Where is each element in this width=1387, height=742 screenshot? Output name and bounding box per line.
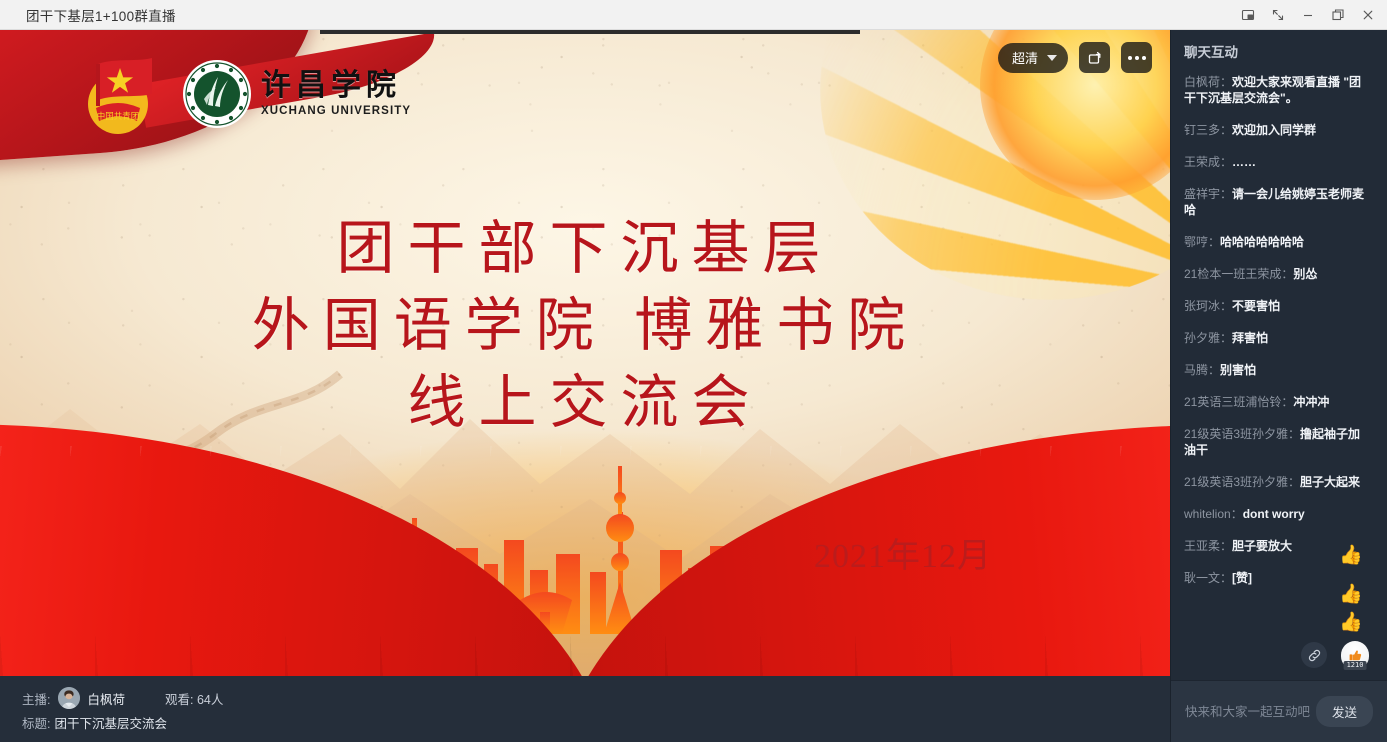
maximize-icon[interactable] bbox=[1323, 0, 1353, 30]
university-logo: 许昌学院 XUCHANG UNIVERSITY bbox=[182, 59, 411, 129]
chat-message-text: 胆子要放大 bbox=[1232, 539, 1292, 553]
send-button[interactable]: 发送 bbox=[1316, 696, 1373, 727]
chat-message-author: 钉三多： bbox=[1184, 123, 1232, 137]
chat-message: 钉三多：欢迎加入同学群 bbox=[1184, 122, 1371, 138]
chat-panel: 聊天互动 白枫荷：欢迎大家来观看直播 "团干下沉基层交流会"。钉三多：欢迎加入同… bbox=[1170, 30, 1387, 742]
chat-message-author: 21英语三班浦怡铃： bbox=[1184, 395, 1293, 409]
window-controls bbox=[1233, 0, 1383, 30]
player-controls: 超清 bbox=[998, 42, 1152, 73]
chat-message-text: …… bbox=[1232, 155, 1256, 169]
chat-message: 马腾：别害怕 bbox=[1184, 362, 1371, 378]
host-avatar bbox=[58, 687, 80, 709]
viewer-label: 观看: bbox=[165, 693, 193, 707]
chat-message-author: 耿一文： bbox=[1184, 571, 1232, 585]
chat-message-author: 鄂哼： bbox=[1184, 235, 1220, 249]
chat-action-row: 1210 bbox=[1171, 634, 1387, 680]
chat-message: 耿一文：[赞] bbox=[1184, 570, 1371, 586]
chat-message: 21级英语3班孙夕雅：胆子大起来 bbox=[1184, 474, 1371, 490]
stream-title-value: 团干下沉基层交流会 bbox=[54, 713, 167, 732]
minimize-icon[interactable] bbox=[1293, 0, 1323, 30]
chat-message: 鄂哼：哈哈哈哈哈哈哈 bbox=[1184, 234, 1371, 250]
expand-window-icon[interactable] bbox=[1263, 0, 1293, 30]
chat-message: 张珂冰：不要害怕 bbox=[1184, 298, 1371, 314]
letterbox-edge bbox=[320, 30, 860, 34]
chat-message-author: 孙夕雅： bbox=[1184, 331, 1232, 345]
title-bar: 团干下基层1+100群直播 bbox=[0, 0, 1387, 30]
chat-message-text: 冲冲冲 bbox=[1293, 395, 1329, 409]
headline-line-3: 线上交流会 bbox=[0, 364, 1170, 441]
picture-in-picture-icon[interactable] bbox=[1233, 0, 1263, 30]
host-line: 主播: 白枫荷 观看: 64人 bbox=[22, 685, 1170, 711]
close-icon[interactable] bbox=[1353, 0, 1383, 30]
window-title: 团干下基层1+100群直播 bbox=[0, 5, 176, 25]
chat-message-author: 马腾： bbox=[1184, 363, 1220, 377]
chat-message-text: [赞] bbox=[1232, 571, 1252, 585]
chat-panel-title: 聊天互动 bbox=[1171, 30, 1387, 64]
chat-message-text: dont worry bbox=[1243, 507, 1305, 521]
chat-message-author: 盛祥宇： bbox=[1184, 187, 1232, 201]
stream-title-line: 标题: 团干下沉基层交流会 bbox=[22, 709, 1170, 735]
chat-message-list[interactable]: 白枫荷：欢迎大家来观看直播 "团干下沉基层交流会"。钉三多：欢迎加入同学群王荣成… bbox=[1171, 64, 1387, 634]
svg-text:中国共青团: 中国共青团 bbox=[97, 111, 140, 121]
chat-message-author: 21级英语3班孙夕雅： bbox=[1184, 427, 1300, 441]
chat-input-row: 发送 bbox=[1171, 680, 1387, 742]
headline-line-1: 团干部下沉基层 bbox=[0, 210, 1170, 287]
chat-message: 盛祥宇：请一会儿给姚婷玉老师麦哈 bbox=[1184, 186, 1371, 218]
chat-message-author: 张珂冰： bbox=[1184, 299, 1232, 313]
chevron-down-icon bbox=[1047, 55, 1057, 61]
university-name-en: XUCHANG UNIVERSITY bbox=[261, 106, 411, 118]
chat-message-text: 哈哈哈哈哈哈哈 bbox=[1220, 235, 1304, 249]
chat-message-text: 拜害怕 bbox=[1232, 331, 1268, 345]
video-column: 中国共青团 bbox=[0, 30, 1170, 742]
slide-date: 2021年12月 bbox=[814, 528, 992, 577]
chat-message-text: 欢迎加入同学群 bbox=[1232, 123, 1316, 137]
chat-message-text: 别怂 bbox=[1293, 267, 1317, 281]
viewer-count: 观看: 64人 bbox=[165, 689, 223, 708]
stream-title-label: 标题: bbox=[22, 713, 50, 732]
university-name-cn: 许昌学院 bbox=[261, 71, 411, 101]
slide-logos: 中国共青团 bbox=[76, 48, 411, 140]
quality-selector[interactable]: 超清 bbox=[998, 43, 1068, 73]
xuchang-university-mark-icon bbox=[182, 59, 252, 129]
like-count-badge: 1210 bbox=[1344, 661, 1367, 670]
stream-info-bar: 主播: 白枫荷 观看: 64人 bbox=[0, 676, 1170, 742]
host-name: 白枫荷 bbox=[87, 689, 125, 708]
quality-label: 超清 bbox=[1012, 48, 1038, 67]
rotate-screen-button[interactable] bbox=[1079, 42, 1110, 73]
chat-message-author: 王荣成： bbox=[1184, 155, 1232, 169]
chat-message: 21英语三班浦怡铃：冲冲冲 bbox=[1184, 394, 1371, 410]
chat-message: whitelion：dont worry bbox=[1184, 506, 1371, 522]
host-label: 主播: bbox=[22, 689, 50, 708]
chat-input[interactable] bbox=[1185, 705, 1316, 719]
chat-message-text: 不要害怕 bbox=[1232, 299, 1280, 313]
more-options-button[interactable] bbox=[1121, 42, 1152, 73]
link-icon[interactable] bbox=[1301, 642, 1327, 668]
live-stream-window: 团干下基层1+100群直播 bbox=[0, 0, 1387, 742]
presentation-slide: 中国共青团 bbox=[0, 30, 1170, 676]
slide-headline: 团干部下沉基层 外国语学院 博雅书院 线上交流会 bbox=[0, 210, 1170, 441]
window-body: 中国共青团 bbox=[0, 30, 1387, 742]
chat-message-author: 白枫荷： bbox=[1184, 75, 1232, 89]
chat-message: 白枫荷：欢迎大家来观看直播 "团干下沉基层交流会"。 bbox=[1184, 74, 1371, 106]
chat-message-text: 胆子大起来 bbox=[1300, 475, 1360, 489]
more-dots-icon bbox=[1128, 56, 1146, 60]
chat-message-author: 21级英语3班孙夕雅： bbox=[1184, 475, 1300, 489]
chat-message-author: 21检本一班王荣成： bbox=[1184, 267, 1293, 281]
chat-message: 王亚柔：胆子要放大 bbox=[1184, 538, 1371, 554]
chat-message-author: whitelion： bbox=[1184, 507, 1243, 521]
video-stage[interactable]: 中国共青团 bbox=[0, 30, 1170, 676]
chat-message: 21级英语3班孙夕雅：撸起袖子加油干 bbox=[1184, 426, 1371, 458]
like-gift-button[interactable]: 1210 bbox=[1341, 641, 1369, 669]
headline-line-2: 外国语学院 博雅书院 bbox=[0, 287, 1170, 364]
chat-message-text: 别害怕 bbox=[1220, 363, 1256, 377]
youth-league-emblem-icon: 中国共青团 bbox=[76, 48, 168, 140]
chat-message-author: 王亚柔： bbox=[1184, 539, 1232, 553]
viewer-value: 64人 bbox=[197, 693, 223, 707]
chat-message: 孙夕雅：拜害怕 bbox=[1184, 330, 1371, 346]
chat-message: 王荣成：…… bbox=[1184, 154, 1371, 170]
chat-message: 21检本一班王荣成：别怂 bbox=[1184, 266, 1371, 282]
